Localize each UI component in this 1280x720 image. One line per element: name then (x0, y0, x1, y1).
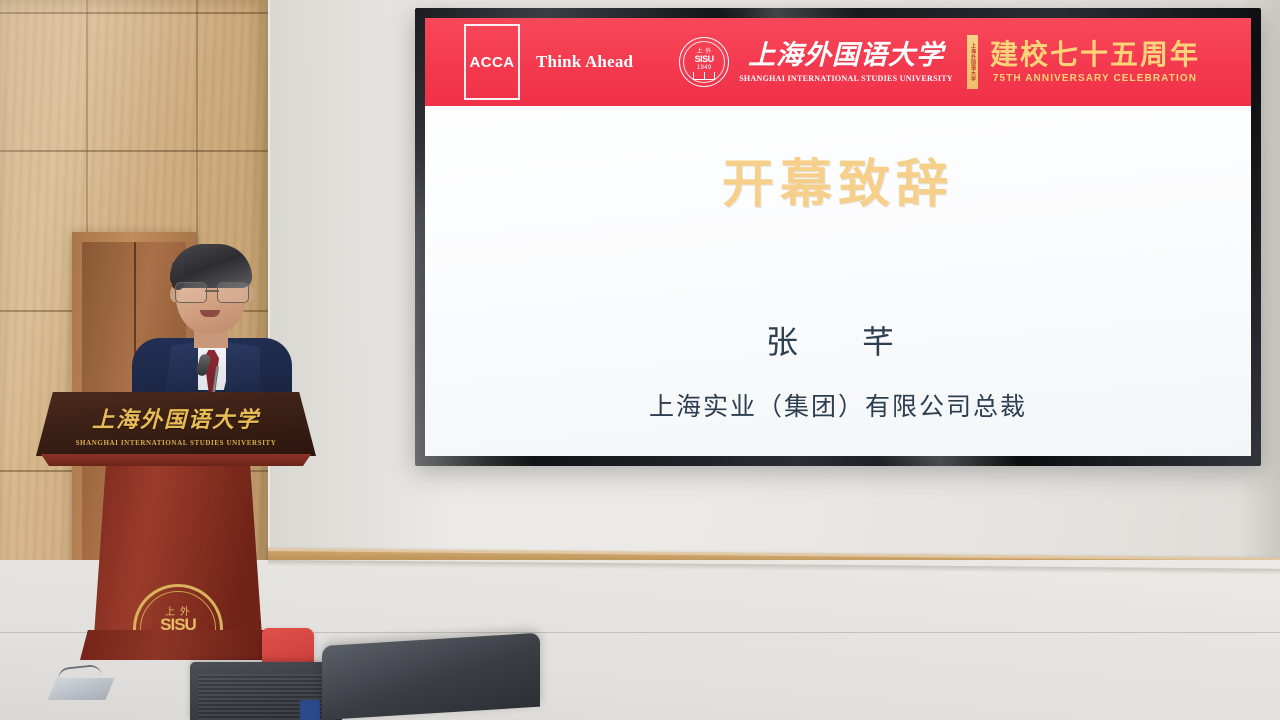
podium-name-cn: 上海外国语大学 (92, 402, 260, 434)
slide-title: 开幕致辞 (722, 142, 954, 217)
eyeglasses-icon (173, 282, 251, 301)
floor-plate (48, 678, 115, 700)
sisu-seal-icon: 上 外 SISU 1949 (679, 37, 729, 87)
podium-name-en: SHANGHAI INTERNATIONAL STUDIES UNIVERSIT… (76, 439, 277, 447)
projection-screen[interactable]: ACCA Think Ahead 上 外 SISU 1949 上海外国语大学 S… (415, 8, 1261, 466)
slide-content: 开幕致辞 张 芊 上海实业（集团）有限公司总裁 (425, 106, 1251, 456)
speaker-name: 张 芊 (766, 317, 910, 363)
open-book-icon (693, 72, 715, 80)
foreground-equipment (322, 633, 540, 720)
vertical-seal-label: 上海外国语大学 (970, 43, 975, 82)
podium-name-plate: 上海外国语大学 SHANGHAI INTERNATIONAL STUDIES U… (36, 392, 316, 456)
university-name-en: SHANGHAI INTERNATIONAL STUDIES UNIVERSIT… (739, 74, 953, 83)
university-name-cn: 上海外国语大学 (748, 41, 944, 71)
podium-lip (38, 454, 314, 466)
anniversary-title-en: 75TH ANNIVERSARY CELEBRATION (993, 73, 1197, 84)
sisu-seal-year: 1949 (680, 65, 728, 71)
acca-logo-label: ACCA (470, 54, 515, 71)
conference-hall-scene: ACCA Think Ahead 上 外 SISU 1949 上海外国语大学 S… (0, 0, 1280, 720)
podium-column: 上 外 SISU 1949 (94, 466, 262, 636)
sisu-seal-acronym: SISU (680, 54, 728, 64)
equipment-blue-panel (300, 700, 320, 720)
anniversary-title-cn: 建校七十五周年 (990, 40, 1200, 69)
acca-logo-icon: ACCA (464, 24, 520, 100)
slide-surface: ACCA Think Ahead 上 外 SISU 1949 上海外国语大学 S… (425, 18, 1251, 456)
acca-tagline: Think Ahead (536, 52, 633, 72)
university-emblem-icon: 上 外 SISU 1949 (133, 584, 223, 674)
speaker-title: 上海实业（集团）有限公司总裁 (649, 387, 1027, 423)
sisu-logo-block: 上 外 SISU 1949 上海外国语大学 SHANGHAI INTERNATI… (679, 37, 953, 87)
anniversary-block: 建校七十五周年 75TH ANNIVERSARY CELEBRATION (990, 40, 1200, 84)
podium-base (80, 630, 276, 660)
vertical-seal-icon: 上海外国语大学 (967, 35, 978, 89)
slide-banner: ACCA Think Ahead 上 外 SISU 1949 上海外国语大学 S… (425, 18, 1251, 106)
